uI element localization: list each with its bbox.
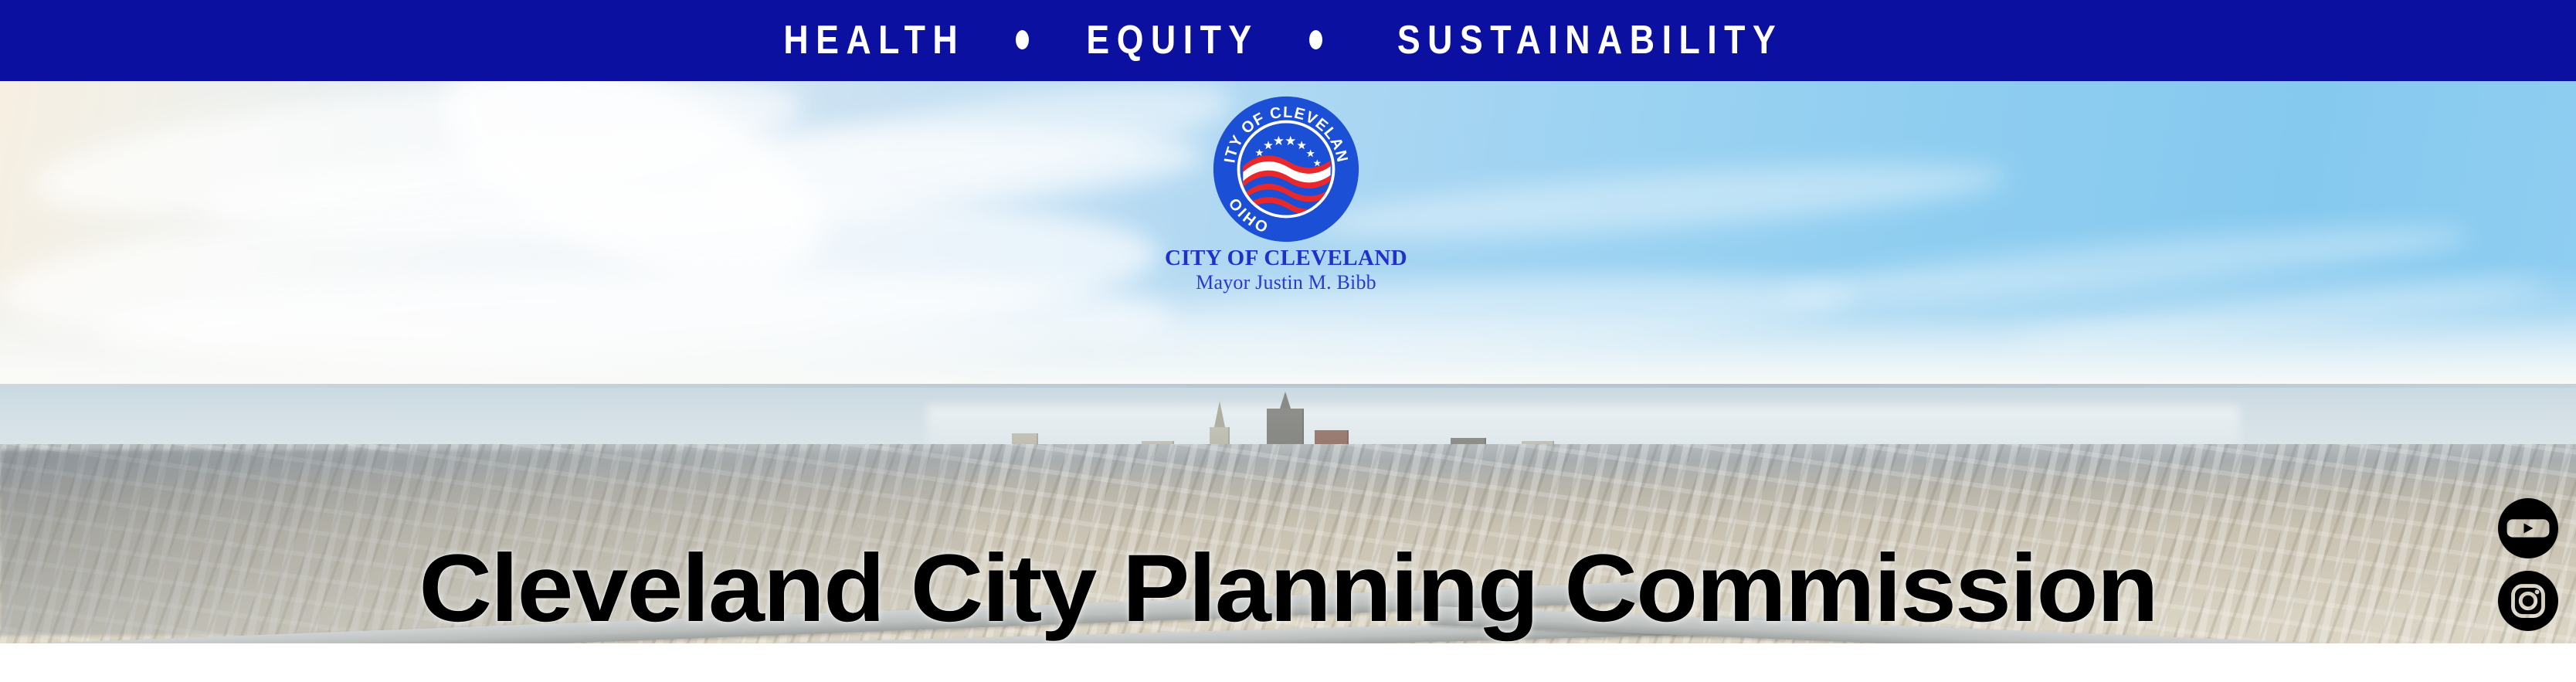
slogan-word-sustainability: SUSTAINABILITY — [1390, 20, 1783, 60]
slogan-word-health: HEALTH — [776, 20, 965, 60]
key-tower-spire — [1280, 392, 1291, 409]
slogan-separator-dot-1 — [1016, 30, 1029, 49]
slogan-word-equity: EQUITY — [1079, 20, 1259, 60]
hero-photo: CITY OF CLEVELAND OHIO — [0, 81, 2576, 643]
social-links-rail — [2497, 498, 2559, 643]
page-title: Cleveland City Planning Commission — [0, 541, 2576, 636]
social-link-youtube[interactable] — [2498, 498, 2558, 558]
social-link-instagram[interactable] — [2498, 571, 2558, 631]
logo-city-name: CITY OF CLEVELAND — [1139, 246, 1433, 270]
page-root: HEALTH EQUITY SUSTAINABILITY — [0, 0, 2576, 682]
bottom-white-strip — [0, 643, 2576, 682]
city-logo-block[interactable]: CITY OF CLEVELAND OHIO — [1139, 95, 1433, 293]
city-of-cleveland-seal-icon: CITY OF CLEVELAND OHIO — [1212, 95, 1360, 243]
horizon-line — [0, 384, 2576, 388]
slogan-separator-dot-2 — [1309, 30, 1322, 49]
slogan-banner: HEALTH EQUITY SUSTAINABILITY — [0, 0, 2576, 81]
terminal-tower-spire — [1214, 401, 1225, 427]
slogan-inner: HEALTH EQUITY SUSTAINABILITY — [761, 20, 1814, 60]
logo-mayor-name: Mayor Justin M. Bibb — [1139, 272, 1433, 293]
